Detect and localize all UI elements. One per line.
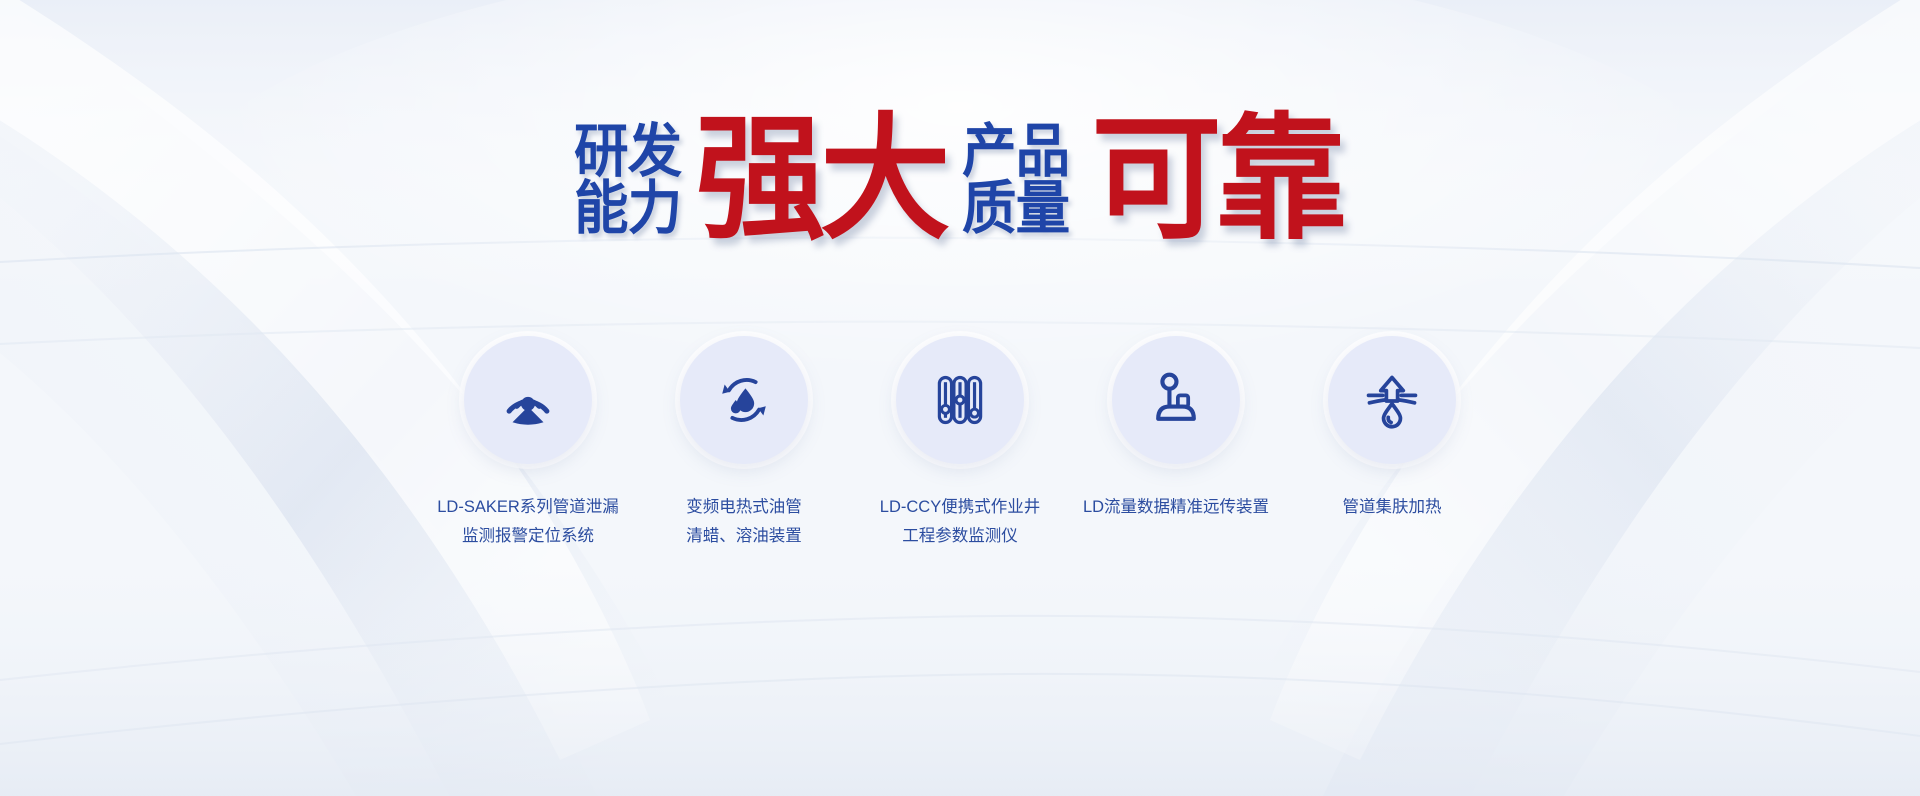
promo-banner: 研发 能力 强大 产品 质量 可靠 — [0, 0, 1920, 796]
product-icon-circle — [680, 336, 808, 464]
signal-broadcast-icon — [497, 369, 559, 431]
product-caption-line1: 管道集肤加热 — [1343, 498, 1442, 516]
product-item[interactable]: LD-SAKER系列管道泄漏 监测报警定位系统 — [453, 336, 603, 552]
joystick-control-icon — [1146, 370, 1206, 430]
product-caption: 管道集肤加热 — [1343, 493, 1442, 522]
product-caption-line1: 变频电热式油管 — [686, 498, 802, 516]
product-caption: 变频电热式油管 清蜡、溶油装置 — [686, 493, 802, 552]
product-caption: LD-CCY便携式作业井 工程参数监测仪 — [880, 493, 1040, 552]
oil-drop-recycle-icon — [713, 369, 775, 431]
product-caption-line1: LD-SAKER系列管道泄漏 — [437, 498, 619, 516]
product-icon-circle — [1328, 336, 1456, 464]
product-item[interactable]: 变频电热式油管 清蜡、溶油装置 — [669, 336, 819, 552]
product-item[interactable]: 管道集肤加热 — [1317, 336, 1467, 552]
product-icon-circle — [1112, 336, 1240, 464]
product-caption: LD-SAKER系列管道泄漏 监测报警定位系统 — [437, 493, 619, 552]
product-caption: LD流量数据精准远传装置 — [1083, 493, 1269, 522]
product-item[interactable]: LD流量数据精准远传装置 — [1101, 336, 1251, 552]
product-caption-line2: 工程参数监测仪 — [880, 522, 1040, 551]
product-item[interactable]: LD-CCY便携式作业井 工程参数监测仪 — [885, 336, 1035, 552]
product-caption-line1: LD-CCY便携式作业井 — [880, 498, 1040, 516]
vertical-sliders-icon — [930, 370, 990, 430]
product-icon-circle — [896, 336, 1024, 464]
heat-arrow-droplet-icon — [1362, 370, 1422, 430]
product-caption-line2: 监测报警定位系统 — [437, 522, 619, 551]
product-caption-line2: 清蜡、溶油装置 — [686, 522, 802, 551]
product-icon-circle — [464, 336, 592, 464]
product-list: LD-SAKER系列管道泄漏 监测报警定位系统 — [0, 336, 1920, 552]
product-caption-line1: LD流量数据精准远传装置 — [1083, 498, 1269, 516]
